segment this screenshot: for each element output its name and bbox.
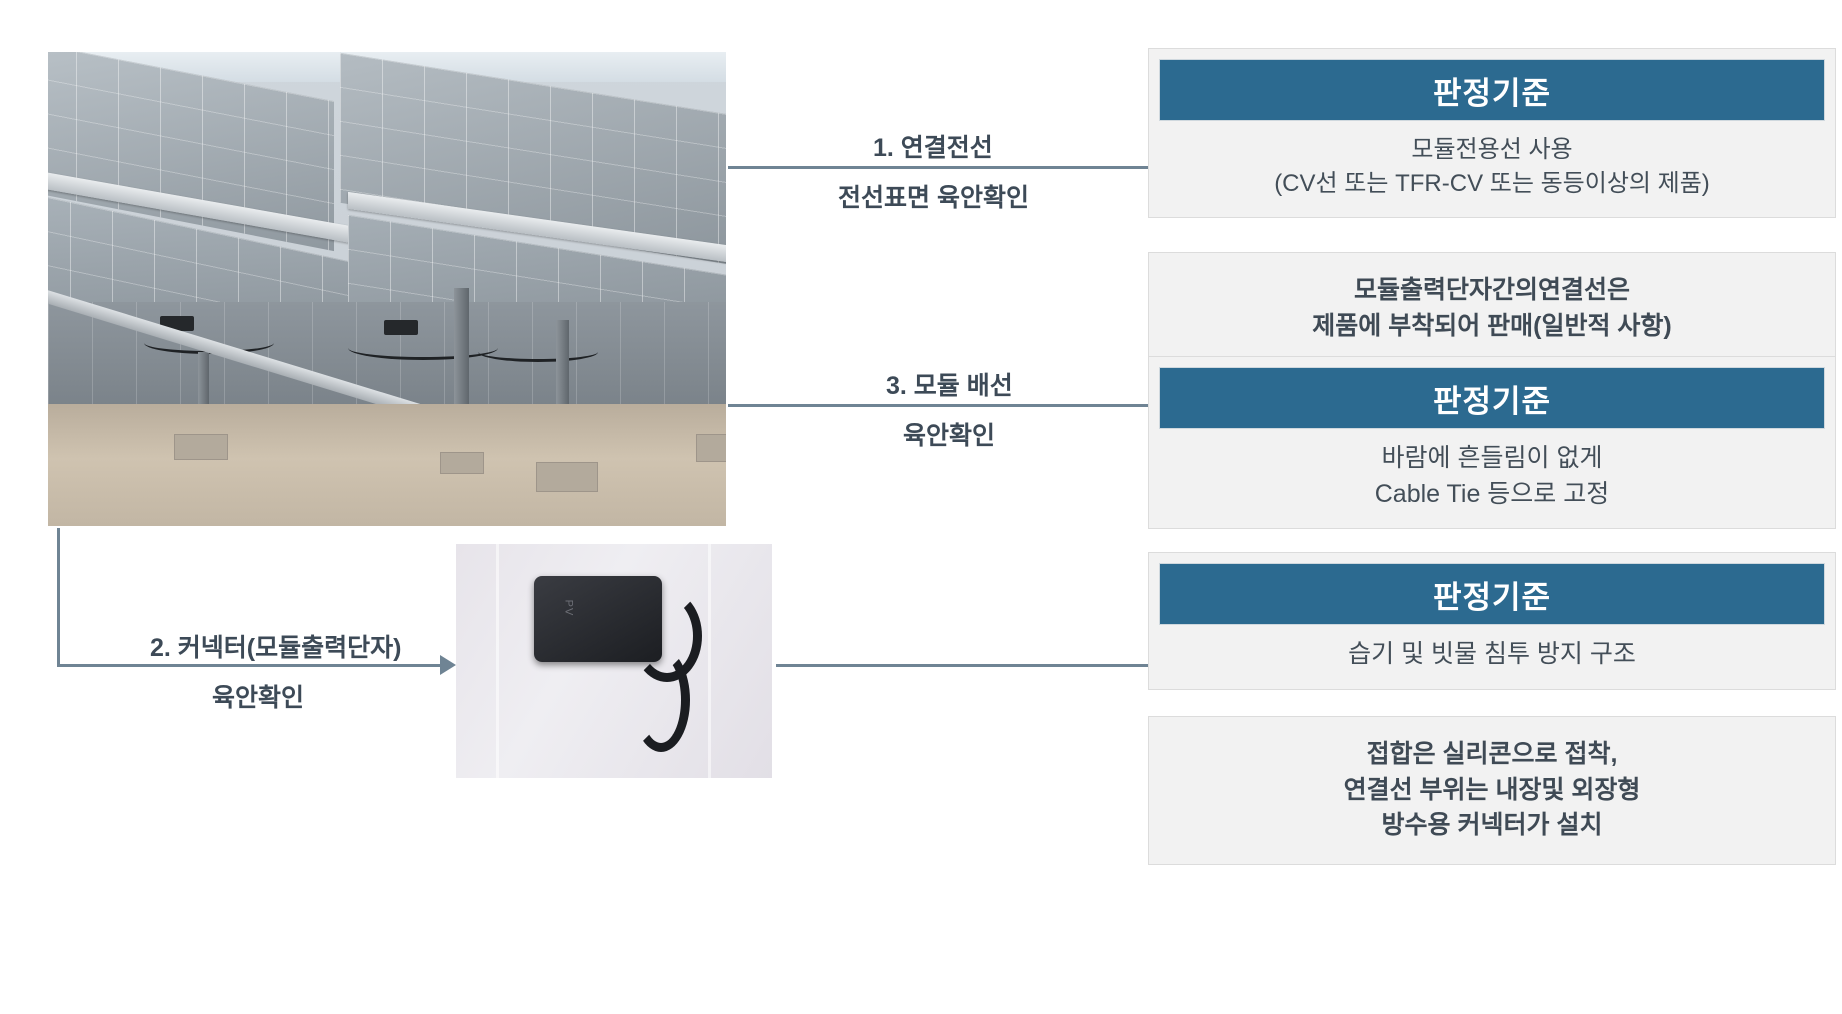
criteria-card-1-body: 모듈전용선 사용 (CV선 또는 TFR-CV 또는 동등이상의 제품) — [1149, 121, 1835, 217]
module-cable — [478, 342, 598, 362]
concrete-footing — [174, 434, 228, 460]
panel-seam — [708, 544, 711, 778]
criteria-card-5: 접합은 실리콘으로 접착, 연결선 부위는 내장및 외장형 방수용 커넥터가 설… — [1148, 716, 1836, 865]
criteria-card-5-body: 접합은 실리콘으로 접착, 연결선 부위는 내장및 외장형 방수용 커넥터가 설… — [1149, 717, 1835, 864]
output-cable — [632, 648, 690, 752]
criteria-card-3-header: 판정기준 — [1159, 367, 1825, 429]
concrete-footing — [696, 434, 726, 462]
criteria-card-3-body: 바람에 흔들림이 없게 Cable Tie 등으로 고정 — [1149, 429, 1835, 528]
criteria-card-1: 판정기준 모듈전용선 사용 (CV선 또는 TFR-CV 또는 동등이상의 제품… — [1148, 48, 1836, 218]
step-2-arrow-vertical — [57, 528, 60, 666]
diagram-canvas: PV 1. 연결전선 전선표면 육안확인 3. 모듈 배선 육안확인 2. 커넥… — [0, 0, 1842, 1014]
criteria-card-2: 모듈출력단자간의연결선은 제품에 부착되어 판매(일반적 사항) — [1148, 252, 1836, 365]
junction-box — [384, 320, 418, 335]
criteria-card-4-header: 판정기준 — [1159, 563, 1825, 625]
criteria-card-4: 판정기준 습기 및 빗물 침투 방지 구조 — [1148, 552, 1836, 690]
junction-box-marking: PV — [562, 600, 574, 617]
step-1-method: 전선표면 육안확인 — [838, 178, 1029, 214]
step-3-label: 3. 모듈 배선 — [886, 366, 1013, 402]
step-1-label: 1. 연결전선 — [873, 128, 993, 164]
ground-surface — [48, 404, 726, 526]
step-2-arrow-head — [440, 655, 456, 675]
step-2-arrow-line — [57, 664, 443, 667]
step-2-method: 육안확인 — [212, 678, 304, 714]
concrete-footing — [440, 452, 484, 474]
step-3-arrow-line — [728, 404, 1152, 407]
module-cable — [348, 336, 498, 360]
step-1-arrow-line — [728, 166, 1152, 169]
step-2-label: 2. 커넥터(모듈출력단자) — [150, 628, 401, 664]
criteria-card-2-body: 모듈출력단자간의연결선은 제품에 부착되어 판매(일반적 사항) — [1149, 253, 1835, 364]
criteria-card-3: 판정기준 바람에 흔들림이 없게 Cable Tie 등으로 고정 — [1148, 356, 1836, 529]
junction-box-housing: PV — [534, 576, 662, 662]
criteria-card-1-header: 판정기준 — [1159, 59, 1825, 121]
solar-panel-array-photo — [48, 52, 726, 526]
criteria-card-4-body: 습기 및 빗물 침투 방지 구조 — [1149, 625, 1835, 689]
connector-to-criteria-arrow-line — [776, 664, 1152, 667]
concrete-footing — [536, 462, 598, 492]
module-output-terminal-connector-photo: PV — [456, 544, 772, 778]
step-3-method: 육안확인 — [903, 416, 995, 452]
panel-seam — [496, 544, 499, 778]
